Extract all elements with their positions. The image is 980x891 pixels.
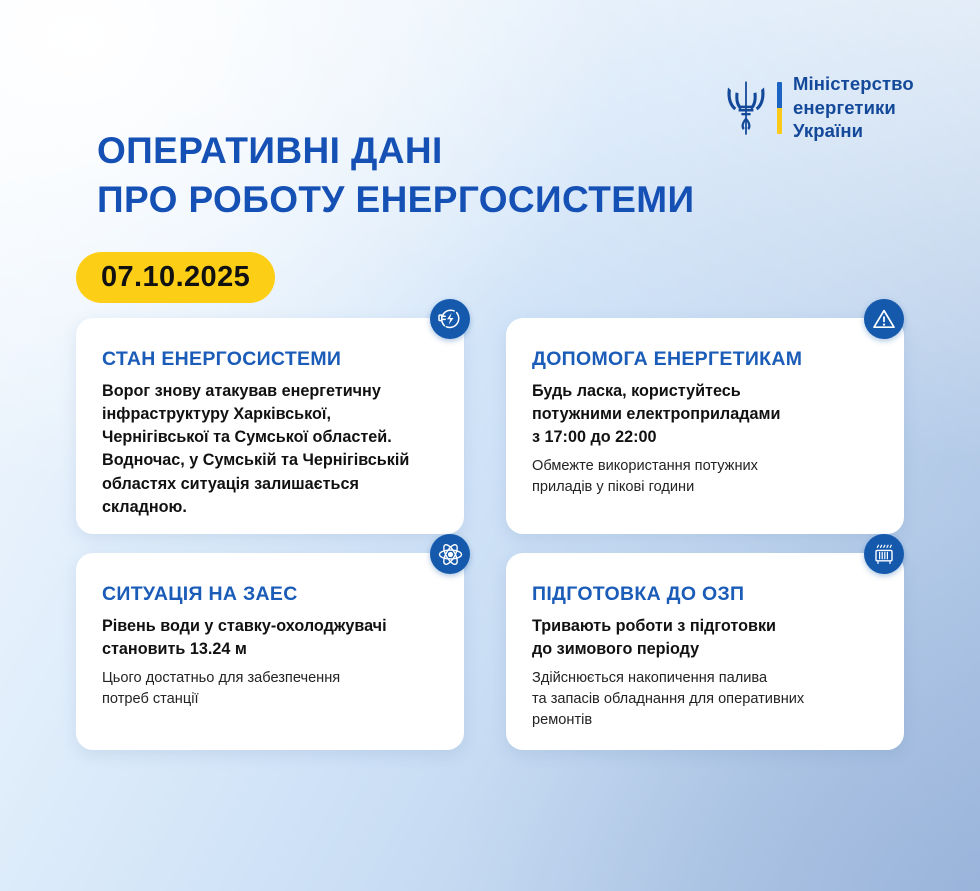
plug-lightning-icon [430, 299, 470, 339]
ministry-name: Міністерство енергетики України [793, 72, 914, 143]
card-sytuatsiia-na-zaes: СИТУАЦІЯ НА ЗАЕС Рівень води у ставку-ох… [76, 553, 464, 750]
card-title: СТАН ЕНЕРГОСИСТЕМИ [102, 348, 438, 371]
infographic-page: Міністерство енергетики України ОПЕРАТИВ… [0, 0, 980, 891]
warning-triangle-icon [864, 299, 904, 339]
card-body: Тривають роботи з підготовки до зимового… [532, 615, 878, 661]
card-body: Будь ласка, користуйтесь потужними елект… [532, 380, 878, 449]
card-title: СИТУАЦІЯ НА ЗАЕС [102, 583, 438, 606]
card-title: ПІДГОТОВКА ДО ОЗП [532, 583, 878, 606]
ministry-logo: Міністерство енергетики України [726, 72, 914, 143]
atom-icon [430, 534, 470, 574]
card-pidhotovka-do-ozp: ПІДГОТОВКА ДО ОЗП Тривають роботи з підг… [506, 553, 904, 750]
date-badge: 07.10.2025 [76, 252, 275, 303]
card-note: Здійснюється накопичення палива та запас… [532, 668, 878, 730]
card-body: Ворог знову атакував енергетичну інфраст… [102, 380, 438, 519]
card-body: Рівень води у ставку-охолоджувачі станов… [102, 615, 438, 661]
card-title: ДОПОМОГА ЕНЕРГЕТИКАМ [532, 348, 878, 371]
ukraine-trident-icon [726, 81, 766, 135]
card-stan-enerhosystemy: СТАН ЕНЕРГОСИСТЕМИ Ворог знову атакував … [76, 318, 464, 534]
card-dopomoha-enerhetykam: ДОПОМОГА ЕНЕРГЕТИКАМ Будь ласка, користу… [506, 318, 904, 534]
flag-divider [777, 82, 782, 134]
page-title: ОПЕРАТИВНІ ДАНІ ПРО РОБОТУ ЕНЕРГОСИСТЕМИ [97, 126, 695, 224]
radiator-icon [864, 534, 904, 574]
card-note: Обмежте використання потужних приладів у… [532, 456, 878, 497]
card-note: Цього достатньо для забезпечення потреб … [102, 668, 438, 709]
